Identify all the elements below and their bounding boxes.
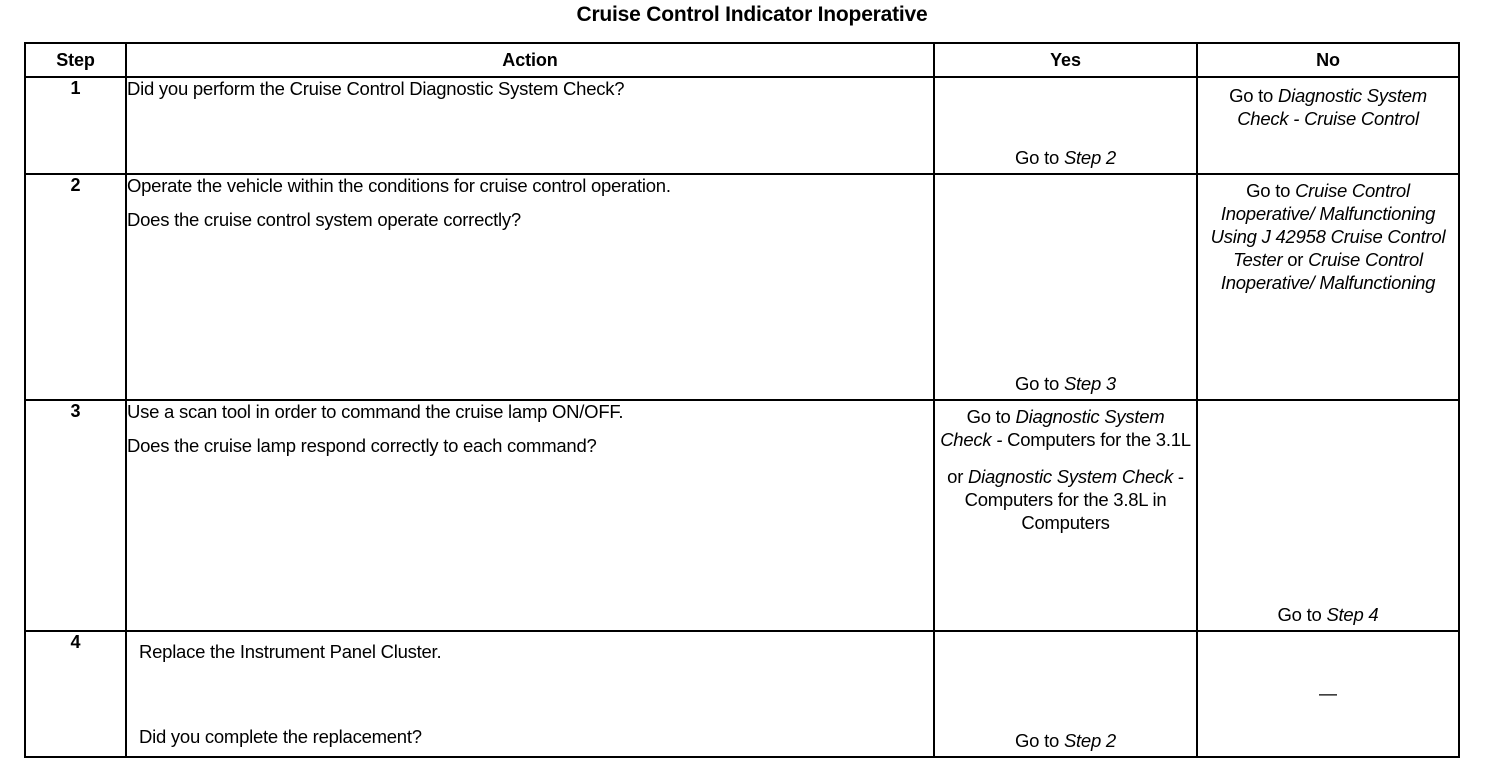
yes-branch-part-2: or Diagnostic System Check - Computers f… (939, 465, 1192, 534)
goto-prefix: Go to (1015, 147, 1064, 168)
step-number: 3 (25, 400, 126, 631)
table-row: 2 Operate the vehicle within the conditi… (25, 174, 1459, 400)
no-branch-text: Go to Step 4 (1202, 603, 1454, 626)
no-branch-text: Go to Cruise Control Inoperative/ Malfun… (1202, 179, 1454, 294)
no-cell: Go to Cruise Control Inoperative/ Malfun… (1197, 174, 1459, 400)
action-line: Did you perform the Cruise Control Diagn… (127, 78, 933, 100)
page-title: Cruise Control Indicator Inoperative (0, 2, 1504, 28)
goto-prefix: Go to (1229, 85, 1278, 106)
goto-reference: Step 2 (1064, 730, 1116, 751)
action-cell: Use a scan tool in order to command the … (126, 400, 934, 631)
action-line: Does the cruise control system operate c… (127, 209, 933, 231)
step-number: 2 (25, 174, 126, 400)
column-header-step: Step (25, 43, 126, 77)
action-line: Operate the vehicle within the condition… (127, 175, 933, 197)
table-row: 1 Did you perform the Cruise Control Dia… (25, 77, 1459, 174)
goto-prefix: Go to (1278, 604, 1327, 625)
action-cell: Operate the vehicle within the condition… (126, 174, 934, 400)
yes-branch-text: Go to Step 3 (939, 372, 1192, 395)
no-cell: — (1197, 631, 1459, 757)
yes-branch-text: Go to Step 2 (939, 729, 1192, 752)
goto-reference: Step 2 (1064, 147, 1116, 168)
yes-branch-part-1: Go to Diagnostic System Check - Computer… (939, 405, 1192, 451)
yes-branch-text: Go to Diagnostic System Check - Computer… (939, 405, 1192, 534)
goto-reference: Step 3 (1064, 373, 1116, 394)
goto-prefix: Go to (967, 406, 1016, 427)
table-row: 3 Use a scan tool in order to command th… (25, 400, 1459, 631)
yes-cell: Go to Step 3 (934, 174, 1197, 400)
action-question: Did you complete the replacement? (139, 726, 422, 748)
diagnostic-table: Step Action Yes No 1 Did you perform the… (24, 42, 1460, 758)
action-cell: Did you perform the Cruise Control Diagn… (126, 77, 934, 174)
column-header-yes: Yes (934, 43, 1197, 77)
goto-conjunction: or (947, 466, 968, 487)
table-header: Step Action Yes No (25, 43, 1459, 77)
no-branch-empty-dash: — (1202, 682, 1454, 705)
step-number: 1 (25, 77, 126, 174)
goto-prefix: Go to (1015, 730, 1064, 751)
no-cell: Go to Diagnostic System Check - Cruise C… (1197, 77, 1459, 174)
goto-qualifier: Computers for the 3.1L (1002, 429, 1191, 450)
goto-prefix: Go to (1246, 180, 1295, 201)
yes-cell: Go to Step 2 (934, 77, 1197, 174)
yes-cell: Go to Step 2 (934, 631, 1197, 757)
goto-reference: Step 4 (1326, 604, 1378, 625)
yes-branch-text: Go to Step 2 (939, 146, 1192, 169)
document-page: Cruise Control Indicator Inoperative Ste… (0, 0, 1504, 776)
table-body: 1 Did you perform the Cruise Control Dia… (25, 77, 1459, 757)
table-row: 4 Replace the Instrument Panel Cluster. … (25, 631, 1459, 757)
column-header-no: No (1197, 43, 1459, 77)
no-branch-text: Go to Diagnostic System Check - Cruise C… (1202, 84, 1454, 130)
table-header-row: Step Action Yes No (25, 43, 1459, 77)
no-cell: Go to Step 4 (1197, 400, 1459, 631)
goto-conjunction: or (1282, 249, 1308, 270)
action-line: Use a scan tool in order to command the … (127, 401, 933, 423)
goto-reference-alt: Diagnostic System Check (968, 466, 1173, 487)
column-header-action: Action (126, 43, 934, 77)
action-line: Replace the Instrument Panel Cluster. (139, 641, 441, 663)
action-cell: Replace the Instrument Panel Cluster. Di… (126, 631, 934, 757)
action-line: Does the cruise lamp respond correctly t… (127, 435, 933, 457)
goto-prefix: Go to (1015, 373, 1064, 394)
step-number: 4 (25, 631, 126, 757)
yes-cell: Go to Diagnostic System Check - Computer… (934, 400, 1197, 631)
